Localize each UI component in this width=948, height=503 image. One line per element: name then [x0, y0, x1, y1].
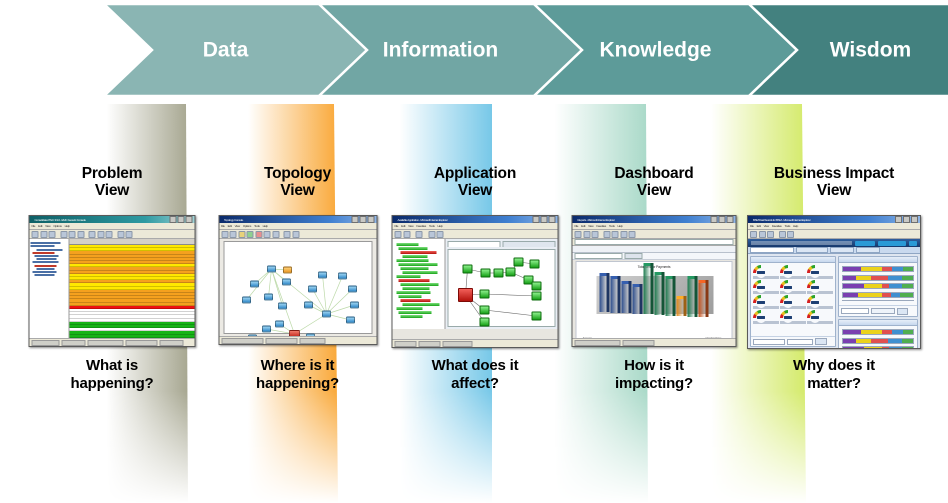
question-line-1: What does it — [385, 357, 565, 375]
topology-view-screenshot[interactable]: Topology Console FileEditViewOptionsTool… — [218, 215, 377, 345]
topology-node[interactable] — [267, 266, 276, 273]
bar-chart-axis — [842, 300, 914, 304]
column-question-dashboard: How is it impacting? — [566, 357, 742, 392]
column-problem: Problem View Consolidated TEC 3.9.0 - EM… — [22, 104, 202, 503]
status-bar — [393, 339, 559, 347]
gauge-dial — [807, 295, 823, 305]
gauge-dial — [780, 310, 796, 320]
window-title-text: BSM Dashboards for BSM - Microsoft Inter… — [749, 218, 895, 222]
stacked-bar — [842, 266, 914, 272]
column-question-application: What does it affect? — [385, 357, 565, 392]
title-line-1: Problem — [22, 165, 202, 182]
gauge-tile[interactable] — [780, 310, 806, 324]
event-grid[interactable] — [70, 239, 195, 341]
column-business-impact: Business Impact View BSM Dashboards for … — [742, 104, 926, 503]
bsm-right-column — [838, 256, 918, 347]
title-line-2: View — [742, 182, 926, 199]
stacked-bar — [842, 283, 914, 289]
question-line-2: impacting? — [566, 375, 742, 393]
filter-bar[interactable] — [573, 253, 736, 260]
window-buttons[interactable] — [170, 216, 194, 223]
app-node-ok[interactable] — [494, 269, 504, 278]
window-titlebar: BSM Dashboards for BSM - Microsoft Inter… — [748, 216, 920, 223]
app-node-ok[interactable] — [532, 312, 542, 321]
bsm-dashboard-body — [748, 254, 920, 349]
chart-bar — [600, 276, 607, 312]
business-impact-view-screenshot[interactable]: BSM Dashboards for BSM - Microsoft Inter… — [747, 215, 921, 349]
column-question-topology: Where is it happening? — [210, 357, 385, 392]
menu-bar[interactable]: FileEditViewOptionsToolsHelp — [219, 223, 376, 230]
app-node-ok[interactable] — [514, 258, 524, 267]
window-buttons[interactable] — [895, 216, 919, 223]
question-line-1: What is — [22, 357, 202, 375]
window-title-text: Consolidated TEC 3.9.0 - EMC Generic Con… — [31, 218, 170, 222]
status-bar — [219, 336, 377, 344]
service-impact-panel[interactable] — [750, 256, 836, 347]
title-line-2: View — [385, 182, 565, 199]
topology-node-warning[interactable] — [283, 267, 292, 274]
stacked-bar — [842, 338, 914, 344]
app-node-ok[interactable] — [506, 268, 516, 277]
question-line-1: How is it — [566, 357, 742, 375]
gauge-tile[interactable] — [753, 265, 779, 279]
svg-text:Wisdom: Wisdom — [830, 39, 911, 62]
app-node-ok[interactable] — [463, 265, 473, 274]
svg-text:Information: Information — [383, 39, 499, 62]
topology-node[interactable] — [348, 286, 357, 293]
topology-node[interactable] — [346, 317, 355, 324]
question-line-1: Why does it — [742, 357, 926, 375]
service-tree-panel[interactable] — [393, 239, 446, 329]
title-line-1: Business Impact — [742, 165, 926, 182]
column-title-topology: Topology View — [210, 165, 385, 200]
change-details-panel[interactable] — [838, 319, 918, 349]
gauge-tile[interactable] — [807, 295, 833, 309]
app-node-ok[interactable] — [532, 282, 542, 291]
menu-bar[interactable]: FileEditViewFavoritesToolsHelp — [748, 223, 920, 230]
column-question-problem: What is happening? — [22, 357, 202, 392]
event-tree-panel[interactable] — [30, 239, 70, 341]
window-title-text: Available Application - Microsoft Intern… — [394, 218, 533, 222]
gauge-tile[interactable] — [807, 310, 833, 324]
topology-nodes[interactable] — [224, 242, 371, 333]
topology-node[interactable] — [282, 279, 291, 286]
status-bar — [30, 338, 196, 346]
gauge-tile[interactable] — [780, 265, 806, 279]
dikw-maturity-diagram: DataInformationKnowledgeWisdom Problem V… — [0, 0, 948, 503]
topology-node[interactable] — [278, 303, 287, 310]
dependency-nodes[interactable] — [449, 250, 555, 326]
status-bar — [573, 338, 737, 346]
chevron-banner-svg: DataInformationKnowledgeWisdom — [0, 0, 948, 104]
gauge-dial — [780, 280, 796, 290]
toolbar[interactable] — [219, 230, 376, 239]
title-line-1: Dashboard — [566, 165, 742, 182]
topology-node[interactable] — [350, 302, 359, 309]
dependency-graph-canvas[interactable] — [448, 249, 556, 327]
incident-bar-chart — [839, 263, 917, 305]
toolbar[interactable] — [30, 230, 195, 239]
stacked-bar — [842, 346, 914, 349]
topology-node[interactable] — [338, 273, 347, 280]
svg-text:Data: Data — [203, 39, 249, 62]
app-node-ok[interactable] — [480, 306, 490, 315]
window-buttons[interactable] — [711, 216, 735, 223]
topology-node[interactable] — [308, 286, 317, 293]
column-title-dashboard: Dashboard View — [566, 165, 742, 200]
topology-node[interactable] — [242, 297, 251, 304]
dikw-chevron-banner: DataInformationKnowledgeWisdom — [0, 0, 948, 104]
column-question-business-impact: Why does it matter? — [742, 357, 926, 392]
gauge-tile[interactable] — [753, 310, 779, 324]
incident-details-panel[interactable] — [838, 256, 918, 317]
chart-bar — [633, 287, 640, 314]
window-title-text: Reports - Microsoft Internet Explorer — [574, 218, 711, 222]
app-node-ok[interactable] — [480, 318, 490, 327]
browser-toolbar[interactable] — [748, 230, 920, 239]
window-buttons[interactable] — [533, 216, 557, 223]
gauge-dial — [753, 310, 769, 320]
window-titlebar: Topology Console — [219, 216, 376, 223]
window-title-text: Topology Console — [220, 218, 351, 222]
gauge-dial — [753, 265, 769, 275]
column-dashboard: Dashboard View Reports - Microsoft Inter… — [566, 104, 742, 503]
stacked-bar — [842, 292, 914, 298]
topology-node[interactable] — [318, 272, 327, 279]
gauge-dial — [807, 280, 823, 290]
svg-text:Knowledge: Knowledge — [599, 39, 711, 62]
application-body — [393, 239, 558, 329]
address-bar[interactable] — [573, 239, 736, 246]
chart-panel[interactable]: Total Vendor Payments Amount Vendor Name — [576, 261, 733, 343]
gauge-dial — [807, 265, 823, 275]
title-line-2: View — [22, 182, 202, 199]
window-buttons[interactable] — [351, 216, 375, 223]
gauge-tile[interactable] — [780, 295, 806, 309]
topology-node[interactable] — [322, 311, 331, 318]
column-title-business-impact: Business Impact View — [742, 165, 926, 200]
topology-node[interactable] — [264, 294, 273, 301]
window-titlebar: Reports - Microsoft Internet Explorer — [573, 216, 736, 223]
app-node-ok[interactable] — [532, 292, 542, 301]
chart-bar — [611, 279, 618, 313]
question-line-2: happening? — [22, 375, 202, 393]
event-rows[interactable] — [70, 245, 195, 341]
gauge-dial — [807, 310, 823, 320]
column-title-problem: Problem View — [22, 165, 202, 200]
app-node-ok[interactable] — [480, 290, 490, 299]
gauge-dial — [753, 295, 769, 305]
toolbar[interactable] — [393, 230, 558, 239]
menu-bar[interactable]: FileEditViewOptionsHelp — [30, 223, 195, 230]
graph-tabs[interactable] — [448, 241, 556, 247]
app-node-ok[interactable] — [530, 260, 540, 269]
chart-title: Total Vendor Payments — [577, 262, 732, 269]
app-node-ok[interactable] — [481, 269, 491, 278]
window-titlebar: Consolidated TEC 3.9.0 - EMC Generic Con… — [30, 216, 195, 223]
question-line-2: affect? — [385, 375, 565, 393]
stacked-bar — [842, 329, 914, 335]
chart-bar — [644, 266, 651, 314]
chart-bar — [666, 279, 673, 316]
gauge-dial — [780, 265, 796, 275]
question-line-2: matter? — [742, 375, 926, 393]
dashboard-view-screenshot[interactable]: Reports - Microsoft Internet Explorer Fi… — [572, 215, 737, 347]
chart-bar — [677, 299, 684, 316]
window-titlebar: Available Application - Microsoft Intern… — [393, 216, 558, 223]
topology-node[interactable] — [262, 326, 271, 333]
application-view-screenshot[interactable]: Available Application - Microsoft Intern… — [392, 215, 559, 348]
topology-node[interactable] — [304, 302, 313, 309]
topology-node[interactable] — [275, 321, 284, 328]
title-line-2: View — [566, 182, 742, 199]
app-node-critical[interactable] — [458, 288, 473, 302]
chart-bar — [655, 275, 662, 315]
gauge-tile[interactable] — [753, 295, 779, 309]
gauge-dial — [753, 280, 769, 290]
gauge-grid[interactable] — [751, 263, 835, 336]
topology-node[interactable] — [250, 281, 259, 288]
gauge-dial — [780, 295, 796, 305]
menu-bar[interactable]: FileEditViewFavoritesToolsHelp — [573, 223, 736, 230]
bsm-tab-bar[interactable] — [748, 247, 920, 254]
application-graph-area — [446, 239, 558, 329]
chart-bar — [699, 283, 706, 317]
gauge-tile[interactable] — [753, 280, 779, 294]
console-body — [30, 239, 195, 341]
gauge-tile[interactable] — [807, 280, 833, 294]
menu-bar[interactable]: FileEditViewFavoritesToolsHelp — [393, 223, 558, 230]
problem-view-screenshot[interactable]: Consolidated TEC 3.9.0 - EMC Generic Con… — [29, 215, 196, 347]
app-header-bar — [573, 246, 736, 253]
column-topology: Topology View Topology Console FileEditV… — [210, 104, 385, 503]
title-line-1: Application — [385, 165, 565, 182]
question-line-2: happening? — [210, 375, 385, 393]
stacked-bar — [842, 275, 914, 281]
column-title-application: Application View — [385, 165, 565, 200]
topology-canvas[interactable] — [223, 241, 372, 334]
title-line-1: Topology — [210, 165, 385, 182]
column-application: Application View Available Application -… — [385, 104, 565, 503]
bsm-app-header — [748, 239, 920, 247]
title-line-2: View — [210, 182, 385, 199]
change-bar-chart — [839, 326, 917, 349]
three-d-bar-chart — [591, 276, 724, 324]
gauge-tile[interactable] — [807, 265, 833, 279]
browser-toolbar[interactable] — [573, 230, 736, 239]
gauge-tile[interactable] — [780, 280, 806, 294]
chart-bar — [688, 279, 695, 317]
incident-panel-controls[interactable] — [839, 305, 917, 316]
panel-footer-controls[interactable] — [751, 336, 835, 346]
question-line-1: Where is it — [210, 357, 385, 375]
chart-bar — [622, 284, 629, 313]
